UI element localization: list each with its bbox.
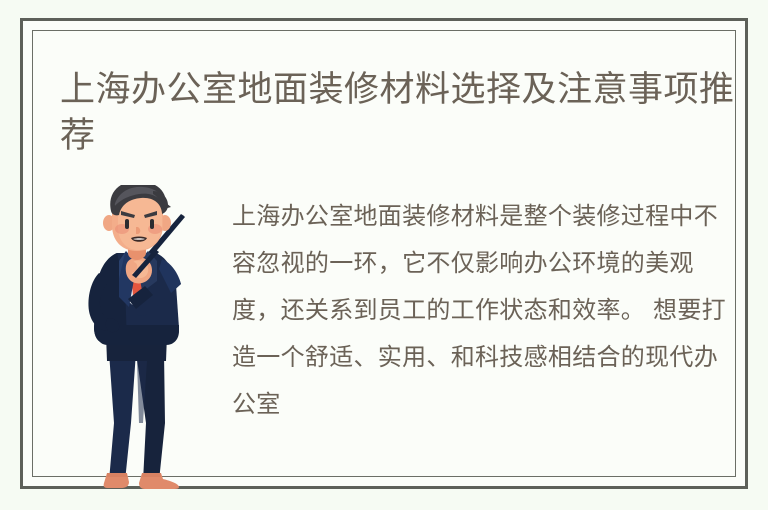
article-body-row: 上海办公室地面装修材料是整个装修过程中不容忽视的一环，它不仅影响办公环境的美观度… <box>33 177 735 476</box>
card-frame-outer: 上海办公室地面装修材料选择及注意事项推荐 <box>20 18 748 489</box>
page-root: 上海办公室地面装修材料选择及注意事项推荐 <box>0 0 768 510</box>
trousers <box>106 335 167 481</box>
card-content: 上海办公室地面装修材料选择及注意事项推荐 <box>33 31 735 476</box>
article-body-text: 上海办公室地面装修材料是整个装修过程中不容忽视的一环，它不仅影响办公环境的美观度… <box>232 193 732 428</box>
shoes <box>104 473 179 489</box>
card-frame-inner: 上海办公室地面装修材料选择及注意事项推荐 <box>32 30 736 477</box>
businessman-pointer-illustration <box>69 185 229 495</box>
page-title: 上海办公室地面装修材料选择及注意事项推荐 <box>60 67 735 159</box>
